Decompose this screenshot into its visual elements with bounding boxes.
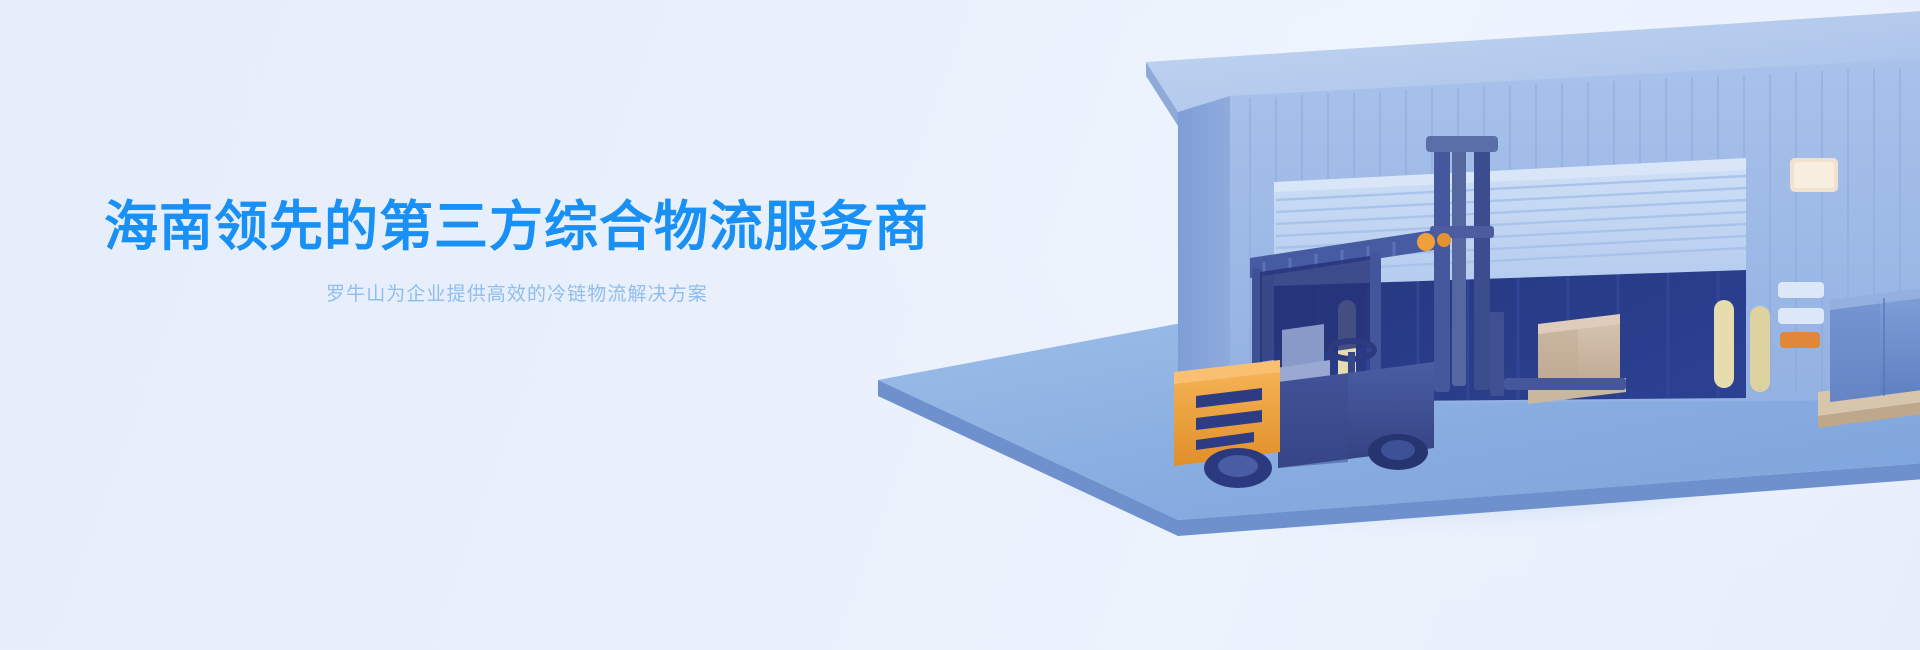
- hero-text-block: 海南领先的第三方综合物流服务商 罗牛山为企业提供高效的冷链物流解决方案: [104, 196, 984, 308]
- page-subtitle: 罗牛山为企业提供高效的冷链物流解决方案: [326, 282, 984, 309]
- cardboard-pallet-load: [1528, 314, 1626, 404]
- hero-illustration: [878, 0, 1920, 650]
- hero-banner: 海南领先的第三方综合物流服务商 罗牛山为企业提供高效的冷链物流解决方案: [0, 0, 1920, 650]
- forklift-mast: [1426, 136, 1498, 392]
- stacked-crates: [1830, 286, 1920, 402]
- page-title: 海南领先的第三方综合物流服务商: [104, 196, 984, 260]
- wall-lamp: [1790, 158, 1838, 192]
- wall-panel: [1778, 282, 1824, 348]
